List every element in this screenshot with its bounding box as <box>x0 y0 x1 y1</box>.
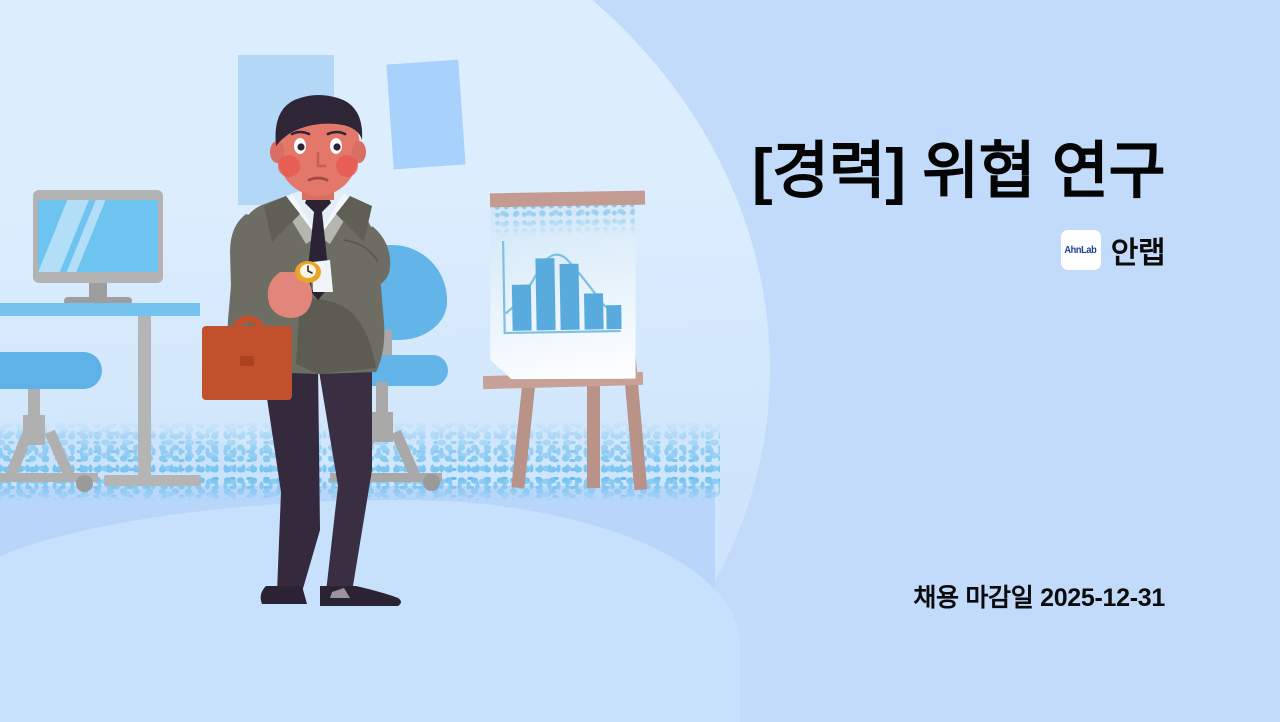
ahnlab-logo-text: AhnLab <box>1065 245 1097 256</box>
trouser-right-leg <box>318 365 372 592</box>
briefcase-clasp <box>240 356 254 366</box>
pupil-right <box>333 143 340 150</box>
company-name: 안랩 <box>1111 228 1165 272</box>
cheek-right <box>336 155 358 177</box>
pupil-left <box>297 143 304 150</box>
ahnlab-logo-icon: AhnLab <box>1061 230 1101 270</box>
text-column: [경력] 위협 연구 AhnLab 안랩 채용 마감일 2025-12-31 <box>660 0 1280 722</box>
deadline-text: 채용 마감일 2025-12-31 <box>913 578 1165 614</box>
recruitment-banner: [경력] 위협 연구 AhnLab 안랩 채용 마감일 2025-12-31 <box>0 0 1280 722</box>
brand-row: AhnLab 안랩 <box>1061 228 1165 272</box>
job-title: [경력] 위협 연구 <box>752 139 1165 204</box>
cheek-left <box>278 155 300 177</box>
shoe-left <box>261 586 307 604</box>
